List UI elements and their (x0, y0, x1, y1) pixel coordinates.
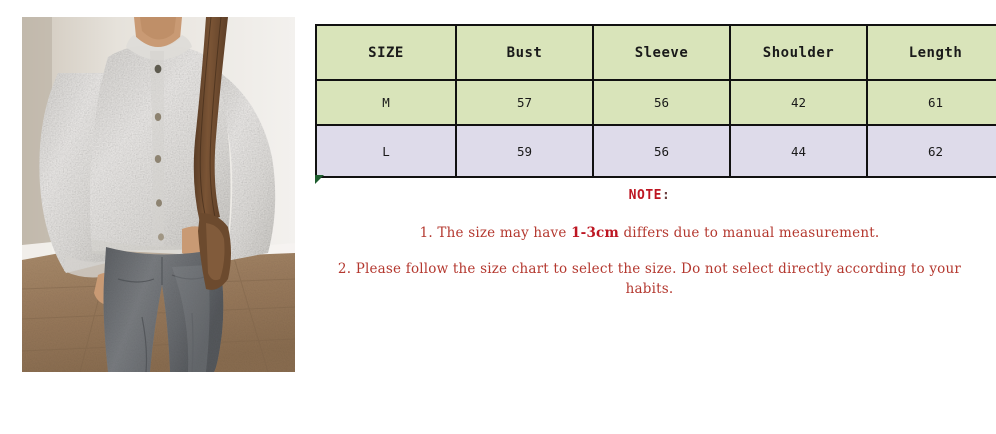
size-chart: SIZE Bust Sleeve Shoulder Length M 57 56… (315, 24, 984, 178)
table-corner-marker-icon (315, 175, 325, 184)
note-1-prefix: 1. The size may have (420, 225, 571, 241)
cell-length-m: 61 (867, 80, 996, 125)
cell-length-l: 62 (867, 125, 996, 177)
note-line-1: 1. The size may have 1-3cm differs due t… (315, 223, 984, 243)
cell-bust-l: 59 (456, 125, 593, 177)
note-1-emphasis: 1-3cm (571, 225, 619, 241)
cell-sleeve-m: 56 (593, 80, 730, 125)
cell-shoulder-m: 42 (730, 80, 867, 125)
cell-sleeve-l: 56 (593, 125, 730, 177)
product-photo-image (22, 17, 295, 372)
product-photo (22, 17, 295, 372)
header-cell-size: SIZE (316, 25, 456, 80)
note-title-colon: : (662, 188, 670, 203)
notes-section: NOTE: 1. The size may have 1-3cm differs… (315, 188, 984, 315)
cell-bust-m: 57 (456, 80, 593, 125)
table-row: M 57 56 42 61 (316, 80, 996, 125)
note-line-2: 2. Please follow the size chart to selec… (315, 259, 984, 299)
note-1-suffix: differs due to manual measurement. (619, 225, 879, 241)
size-chart-table: SIZE Bust Sleeve Shoulder Length M 57 56… (315, 24, 996, 178)
note-title: NOTE: (315, 188, 984, 203)
cell-size-m: M (316, 80, 456, 125)
cell-size-l: L (316, 125, 456, 177)
table-row: L 59 56 44 62 (316, 125, 996, 177)
header-cell-sleeve: Sleeve (593, 25, 730, 80)
note-title-text: NOTE (629, 188, 662, 203)
header-cell-length: Length (867, 25, 996, 80)
header-cell-shoulder: Shoulder (730, 25, 867, 80)
header-cell-bust: Bust (456, 25, 593, 80)
table-header-row: SIZE Bust Sleeve Shoulder Length (316, 25, 996, 80)
cell-shoulder-l: 44 (730, 125, 867, 177)
